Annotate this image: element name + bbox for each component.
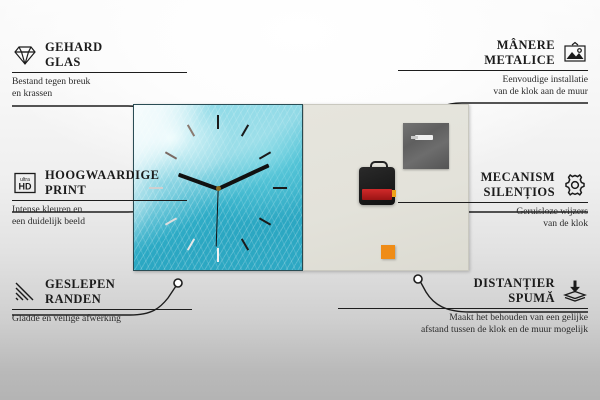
clock-tick [259, 151, 271, 159]
feature-header: GESLEPENRANDEN [12, 277, 192, 306]
diamond-icon [12, 43, 38, 67]
feature-divider [398, 202, 588, 203]
feature-description: Gladde en veilige afwerking [12, 313, 192, 325]
feature-divider [12, 200, 187, 201]
feature-description: Eenvoudige installatievan de klok aan de… [398, 74, 588, 97]
feature-divider [338, 308, 588, 309]
feature-divider [12, 72, 187, 73]
feature-header: GEHARDGLAS [12, 40, 187, 69]
feature-header: MECANISMSILENȚIOS [398, 170, 588, 199]
clock-tick [259, 217, 271, 225]
feature-title: HOOGWAARDIGEPRINT [45, 168, 159, 197]
feature-title: GEHARDGLAS [45, 40, 103, 69]
feature-foam-spacer: DISTANȚIERSPUMĂ Maakt het behouden van e… [338, 276, 588, 335]
clock-tick [187, 124, 195, 136]
clock-minute-hand [217, 164, 269, 191]
battery [362, 189, 392, 200]
battery-terminal [392, 190, 396, 197]
feature-silent-mechanism: MECANISMSILENȚIOS Geruisloze wijzersvan … [398, 170, 588, 229]
picture-frame-hanger-icon [562, 41, 588, 65]
clock-tick [217, 115, 219, 129]
feature-description: Intense kleuren eneen duidelijk beeld [12, 204, 187, 227]
feature-ground-edges: GESLEPENRANDEN Gladde en veilige afwerki… [12, 277, 192, 325]
feature-metal-handles: MÂNEREMETALICE Eenvoudige installatievan… [398, 38, 588, 97]
feature-divider [398, 70, 588, 71]
spacer-stack-arrow-icon [562, 279, 588, 303]
feature-description: Geruisloze wijzersvan de klok [398, 206, 588, 229]
clock-tick [241, 124, 249, 136]
feature-title: MÂNEREMETALICE [484, 38, 555, 67]
clock-tick [241, 238, 249, 250]
feature-title: GESLEPENRANDEN [45, 277, 115, 306]
gear-icon [562, 173, 588, 197]
svg-text:HD: HD [19, 181, 32, 191]
feature-description: Maakt het behouden van een gelijkeafstan… [338, 312, 588, 335]
clock-tick [273, 187, 287, 189]
feature-description: Bestand tegen breuken krassen [12, 76, 187, 99]
metal-hanger-plate [403, 123, 449, 169]
infographic-canvas: GEHARDGLAS Bestand tegen breuken krassen… [0, 0, 600, 400]
feature-header: MÂNEREMETALICE [398, 38, 588, 67]
feature-divider [12, 309, 192, 310]
clock-tick [165, 151, 177, 159]
clock-tick [187, 238, 195, 250]
hanger-slot-secondary [411, 136, 418, 139]
clock-second-hand [215, 189, 218, 247]
ultra-hd-icon: ultra HD [12, 171, 38, 195]
feature-high-quality-print: ultra HD HOOGWAARDIGEPRINT Intense kleur… [12, 168, 187, 227]
clock-hand-hub [216, 186, 221, 191]
feature-title: DISTANȚIERSPUMĂ [474, 276, 555, 305]
feature-title: MECANISMSILENȚIOS [481, 170, 555, 199]
clock-tick [217, 248, 219, 262]
feature-header: DISTANȚIERSPUMĂ [338, 276, 588, 305]
foam-spacer [381, 245, 395, 259]
beveled-edges-icon [12, 280, 38, 304]
feature-header: ultra HD HOOGWAARDIGEPRINT [12, 168, 187, 197]
feature-hardened-glass: GEHARDGLAS Bestand tegen breuken krassen [12, 40, 187, 99]
